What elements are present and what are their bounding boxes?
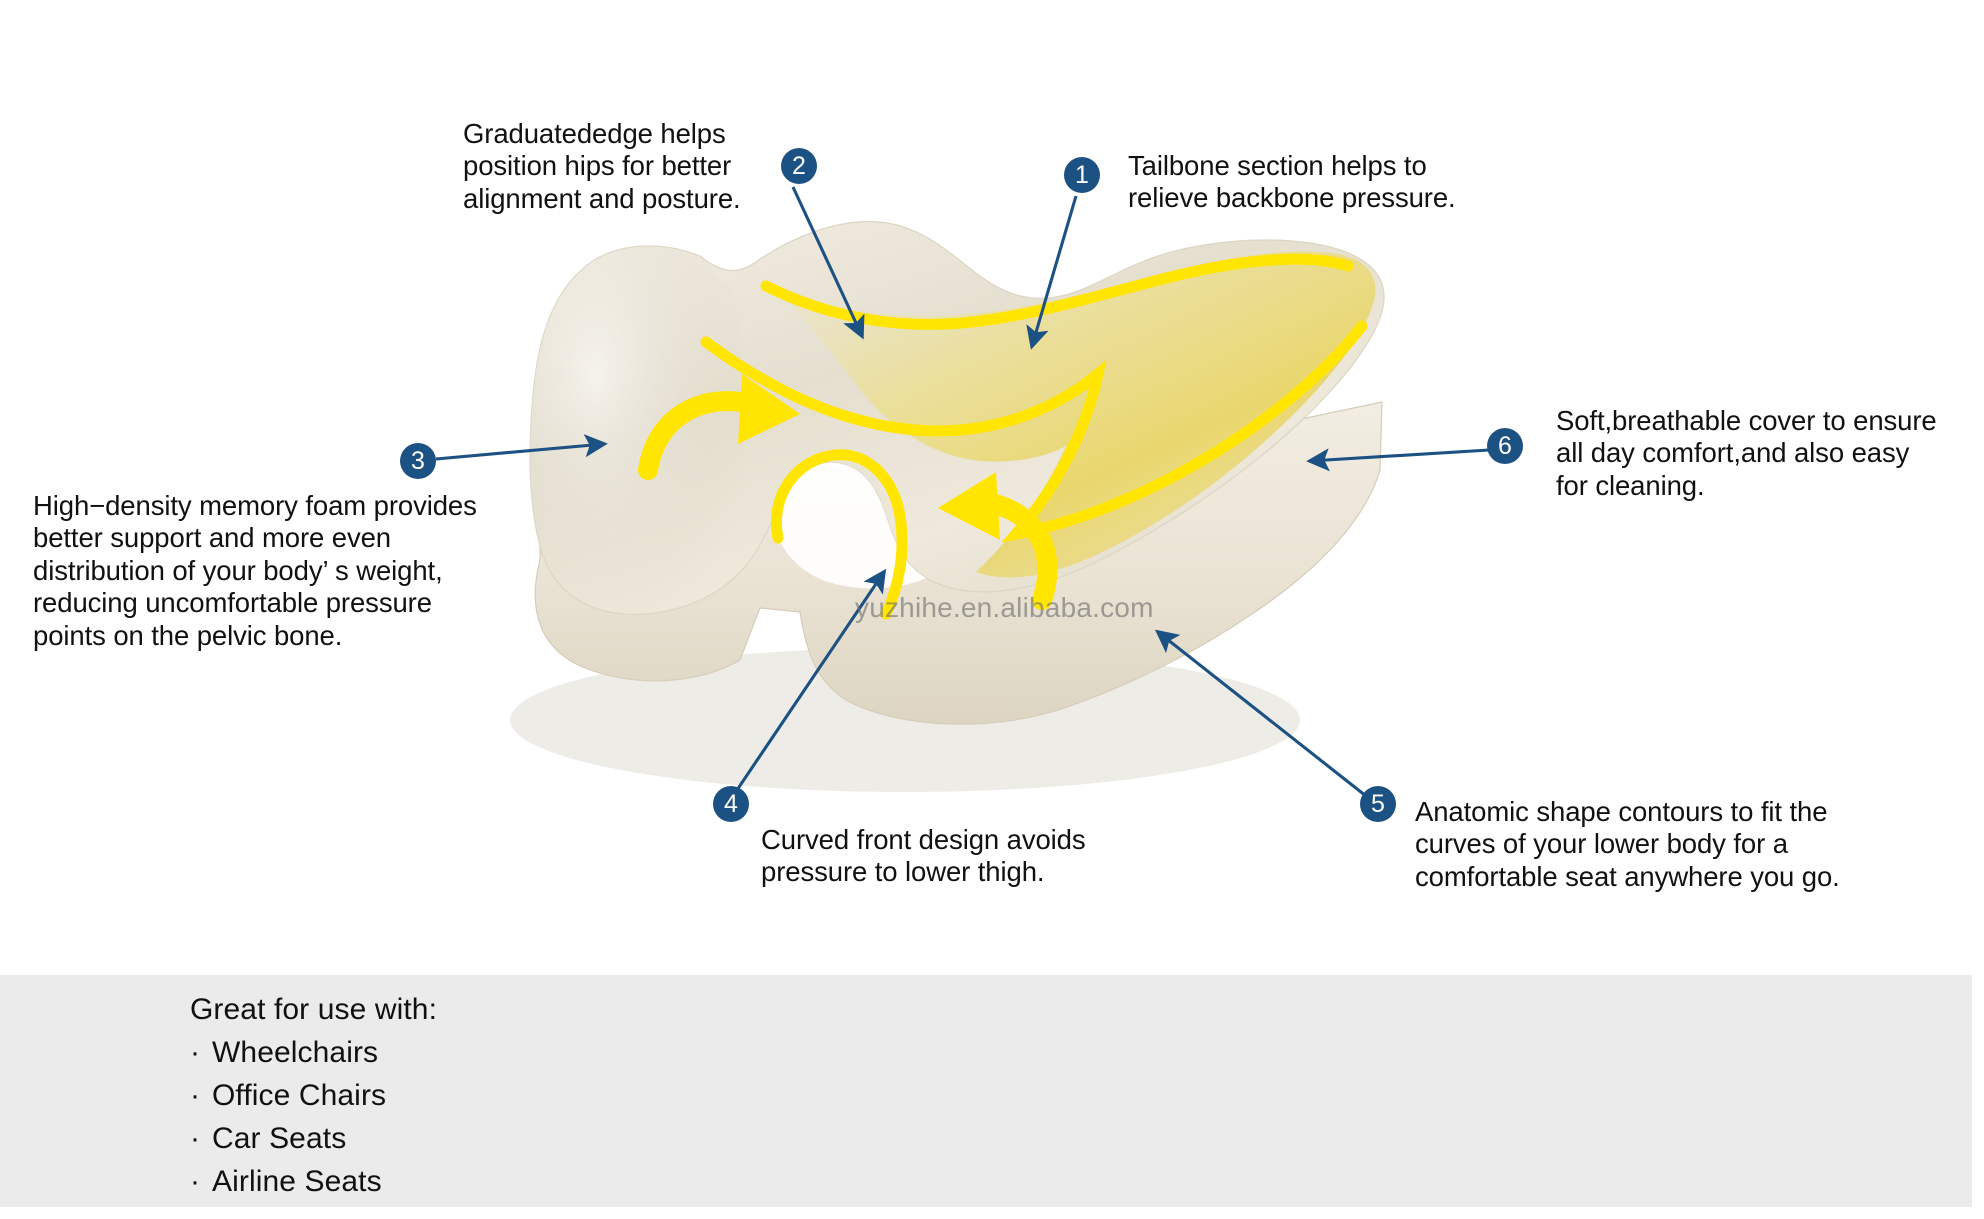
use-with-item: · Airline Seats <box>190 1167 437 1197</box>
callout-marker-5[interactable]: 5 <box>1360 786 1396 822</box>
callout-text-1: Tailbone section helps to relieve backbo… <box>1128 150 1548 215</box>
use-with-panel: Great for use with: · Wheelchairs · Offi… <box>0 975 1972 1207</box>
callout-marker-6[interactable]: 6 <box>1487 428 1523 464</box>
callout-marker-4[interactable]: 4 <box>713 786 749 822</box>
use-with-list: · Wheelchairs · Office Chairs · Car Seat… <box>190 1038 437 1197</box>
infographic-page: 1 2 3 4 5 6 Tailbone section helps to re… <box>0 0 1984 1219</box>
use-with-item: · Wheelchairs <box>190 1038 437 1068</box>
callout-marker-1[interactable]: 1 <box>1064 157 1100 193</box>
use-with-item-label: Wheelchairs <box>212 1038 378 1068</box>
bullet-icon: · <box>190 1124 212 1154</box>
callout-text-6: Soft,breathable cover to ensure all day … <box>1556 405 1976 502</box>
callout-text-5: Anatomic shape contours to fit the curve… <box>1415 796 1885 893</box>
use-with-item-label: Car Seats <box>212 1124 346 1154</box>
cushion-sheen <box>530 246 748 614</box>
cushion <box>530 221 1384 724</box>
use-with-title: Great for use with: <box>190 995 437 1025</box>
callout-marker-2[interactable]: 2 <box>781 148 817 184</box>
callout-text-2: Graduatededge helps position hips for be… <box>463 118 793 215</box>
callout-text-3: High−density memory foam provides better… <box>33 490 533 652</box>
callout-text-4: Curved front design avoids pressure to l… <box>761 824 1161 889</box>
use-with-item-label: Airline Seats <box>212 1167 382 1197</box>
bullet-icon: · <box>190 1167 212 1197</box>
use-with-content: Great for use with: · Wheelchairs · Offi… <box>190 995 437 1210</box>
use-with-item-label: Office Chairs <box>212 1081 386 1111</box>
use-with-item: · Car Seats <box>190 1124 437 1154</box>
bullet-icon: · <box>190 1081 212 1111</box>
bullet-icon: · <box>190 1038 212 1068</box>
callout-marker-3[interactable]: 3 <box>400 443 436 479</box>
use-with-item: · Office Chairs <box>190 1081 437 1111</box>
product-diagram-stage: 1 2 3 4 5 6 Tailbone section helps to re… <box>0 0 1984 975</box>
